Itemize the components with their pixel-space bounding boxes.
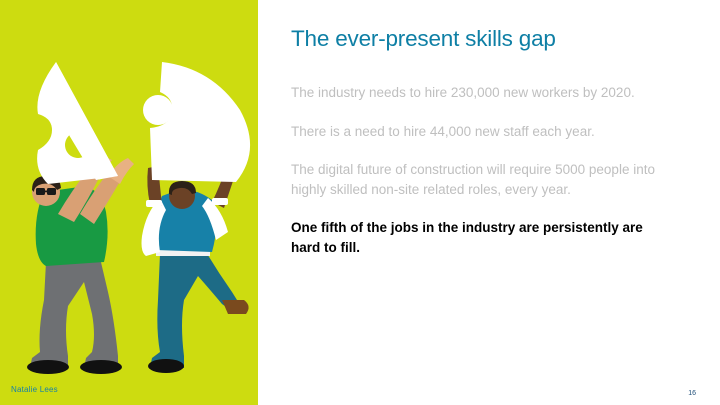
- illustration-panel: Natalie Lees: [0, 0, 258, 405]
- left-figure-trousers: [30, 258, 118, 368]
- left-figure-shoe-front: [80, 360, 122, 374]
- page-number: 16: [688, 390, 696, 397]
- puzzle-illustration: [0, 0, 258, 405]
- body-paragraph-3: The digital future of construction will …: [291, 160, 673, 199]
- right-figure-shoe-raised: [222, 300, 249, 314]
- body-text-block: The industry needs to hire 230,000 new w…: [291, 83, 673, 257]
- left-figure-glasses-left: [36, 188, 45, 195]
- right-figure-cuff-left: [146, 200, 162, 207]
- left-figure-glasses-right: [47, 188, 56, 195]
- slide-content: The ever-present skills gap The industry…: [291, 0, 687, 405]
- left-figure-glasses-bridge: [45, 191, 48, 193]
- page-title: The ever-present skills gap: [291, 25, 685, 52]
- artist-credit: Natalie Lees: [11, 385, 58, 394]
- right-figure-shoe-standing: [148, 359, 184, 373]
- left-figure-shoe-back: [27, 360, 69, 374]
- body-paragraph-4-emphasis: One fifth of the jobs in the industry ar…: [291, 218, 673, 257]
- right-puzzle-piece-tab: [143, 95, 173, 125]
- body-paragraph-2: There is a need to hire 44,000 new staff…: [291, 122, 673, 142]
- body-paragraph-1: The industry needs to hire 230,000 new w…: [291, 83, 673, 103]
- slide: Natalie Lees The ever-present skills gap…: [0, 0, 720, 405]
- right-figure-cuff-right: [212, 198, 228, 205]
